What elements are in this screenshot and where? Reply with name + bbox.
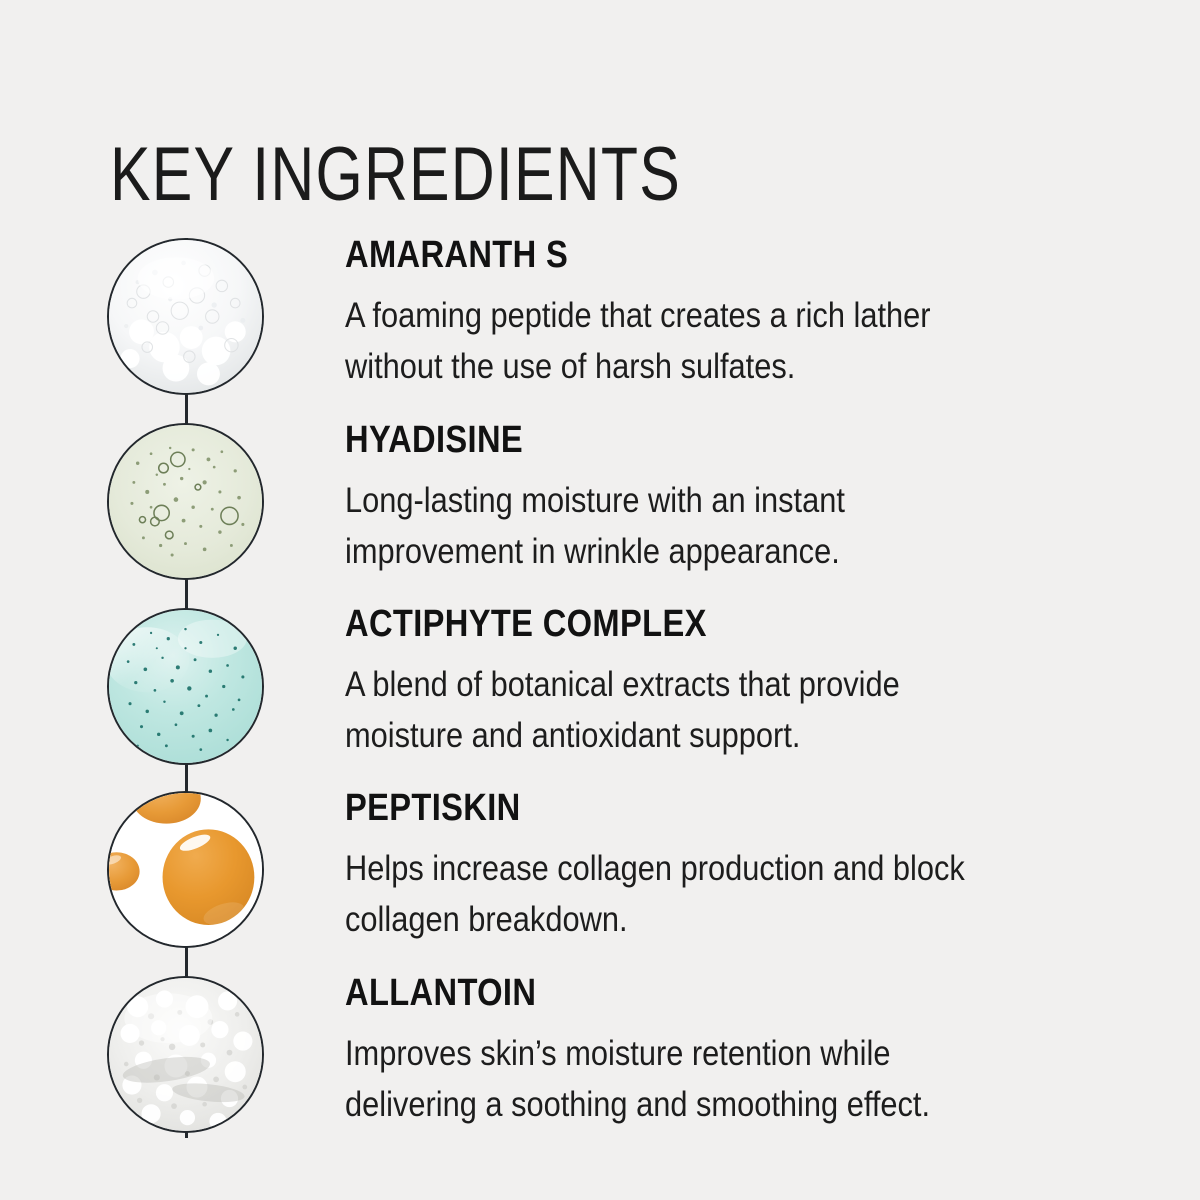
ingredient-description: Long-lasting moisture with an instant im… <box>345 475 1040 577</box>
page-title: KEY INGREDIENTS <box>110 137 681 213</box>
white-powder-crystals-swatch <box>107 976 264 1133</box>
ingredient-swatch-rail <box>107 238 267 1138</box>
orange-oil-droplets-swatch <box>107 791 264 948</box>
ingredient-item-hyadisine: HYADISINE Long-lasting moisture with an … <box>345 421 1135 577</box>
foam-lather-swatch <box>107 238 264 395</box>
ingredient-description: A blend of botanical extracts that provi… <box>345 659 1040 761</box>
aqua-speckled-gel-swatch <box>107 608 264 765</box>
ingredient-item-amaranth-s: AMARANTH S A foaming peptide that create… <box>345 236 1135 392</box>
ingredient-item-allantoin: ALLANTOIN Improves skin’s moisture reten… <box>345 974 1135 1130</box>
ingredient-name: HYADISINE <box>345 421 1024 459</box>
ingredient-name: ALLANTOIN <box>345 974 1024 1012</box>
ingredient-description: A foaming peptide that creates a rich la… <box>345 290 1040 392</box>
ingredient-description: Helps increase collagen production and b… <box>345 843 1040 945</box>
ingredient-name: PEPTISKIN <box>345 789 1024 827</box>
ingredient-item-actiphyte-complex: ACTIPHYTE COMPLEX A blend of botanical e… <box>345 605 1135 761</box>
ingredient-item-peptiskin: PEPTISKIN Helps increase collagen produc… <box>345 789 1135 945</box>
ingredient-name: ACTIPHYTE COMPLEX <box>345 605 1024 643</box>
green-gel-bubbles-swatch <box>107 423 264 580</box>
key-ingredients-infographic: KEY INGREDIENTS <box>0 0 1200 1200</box>
ingredient-description: Improves skin’s moisture retention while… <box>345 1028 1040 1130</box>
ingredient-name: AMARANTH S <box>345 236 1024 274</box>
